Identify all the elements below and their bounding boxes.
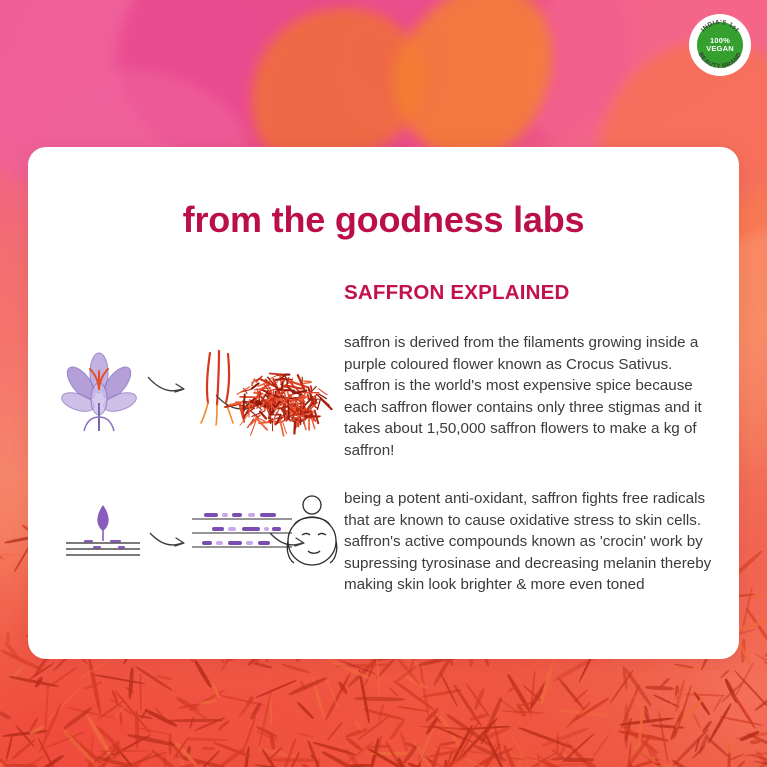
paragraph-saffron-benefits: being a potent anti-oxidant, saffron fig…	[344, 488, 722, 596]
page-title: from the goodness labs	[28, 199, 739, 241]
saffron-threads-pile-illustration	[224, 343, 336, 443]
crocus-flower-illustration	[54, 347, 144, 437]
skin-layer-with-crocin-illustration	[60, 499, 146, 563]
paragraph-saffron-origin: saffron is derived from the filaments gr…	[344, 332, 722, 461]
section-heading: SAFFRON EXPLAINED	[344, 281, 570, 305]
arrow-right-icon	[148, 529, 188, 551]
content-card: from the goodness labs SAFFRON EXPLAINED…	[28, 147, 739, 659]
vegan-badge: INDIA'S 1st BEAUTY BRAND 100% VEGAN	[689, 14, 751, 76]
woman-face-illustration	[272, 489, 352, 575]
vegan-badge-inner: 100% VEGAN	[697, 22, 743, 68]
arrow-right-icon	[146, 373, 188, 397]
badge-vegan-label: VEGAN	[706, 45, 734, 53]
product-infographic: INDIA'S 1st BEAUTY BRAND 100% VEGAN from…	[0, 0, 767, 767]
